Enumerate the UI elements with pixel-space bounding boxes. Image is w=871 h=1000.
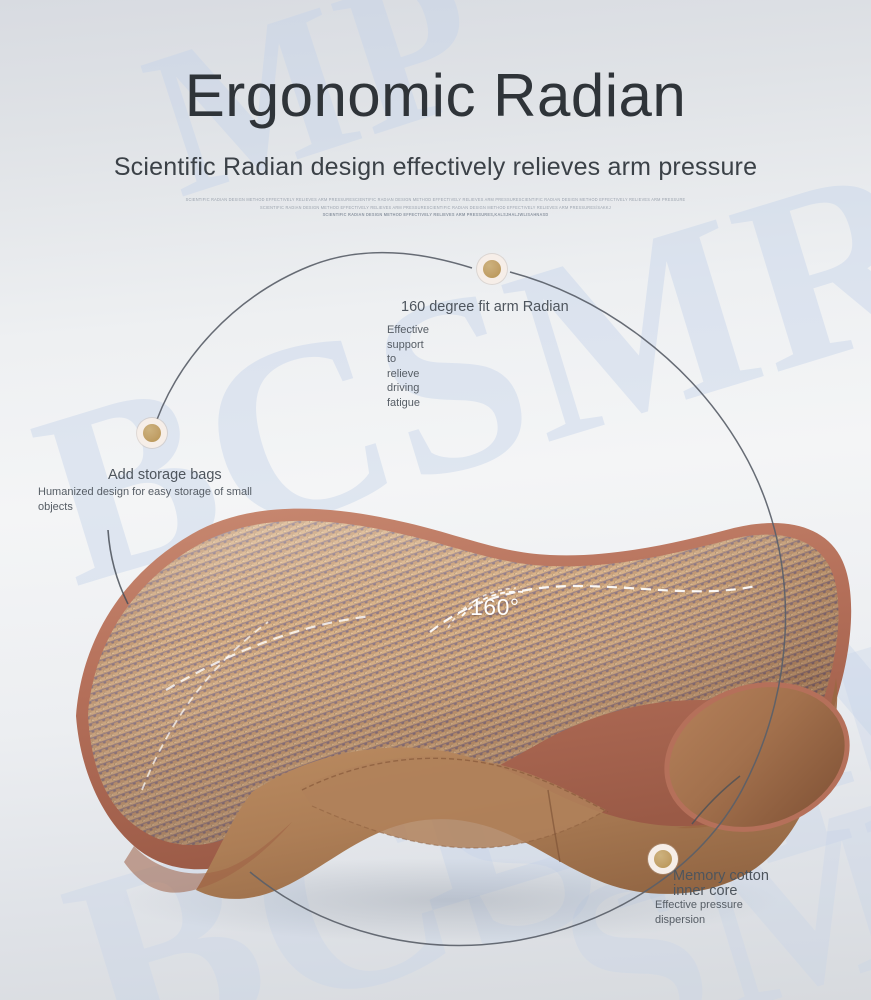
page-title: Ergonomic Radian (0, 66, 871, 126)
callout-subtitle: Effective support to relieve driving fat… (387, 323, 429, 410)
callout-title: Add storage bags (108, 467, 222, 483)
callout-subtitle: Humanized design for easy storage of sma… (38, 485, 278, 514)
microtext-line: SCIENTIFIC RADIAN DESIGN METHOD EFFECTIV… (0, 211, 871, 220)
callout-subtitle: Effective pressure dispersion (655, 898, 783, 927)
callout-dot-icon[interactable] (477, 254, 507, 284)
decorative-microtext-block: SCIENTIFIC RADIAN DESIGN METHOD EFFECTIV… (0, 196, 871, 219)
header: Ergonomic Radian Scientific Radian desig… (0, 0, 871, 219)
angle-label: 160° (470, 594, 520, 621)
callout-dot-icon[interactable] (137, 418, 167, 448)
page-subtitle: Scientific Radian design effectively rel… (0, 153, 871, 182)
callout-title: 160 degree fit arm Radian (401, 299, 569, 315)
callout-title: Memory cotton inner core (673, 869, 773, 899)
